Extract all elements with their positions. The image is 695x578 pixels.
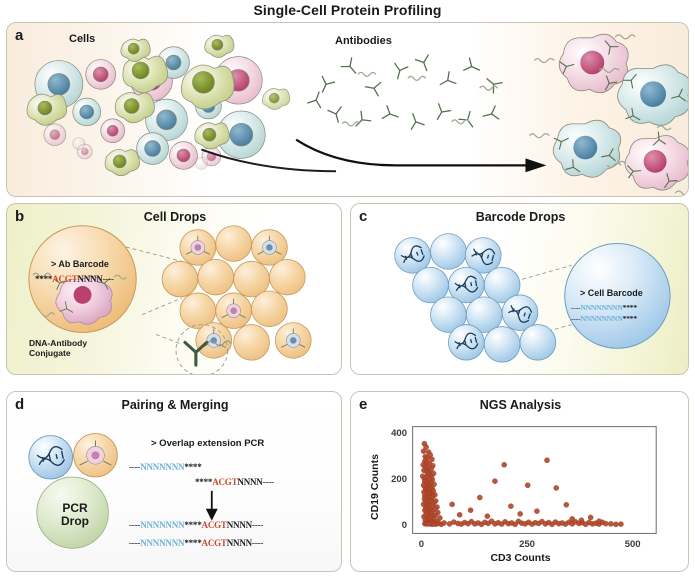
chart-plot-frame (413, 427, 657, 534)
panel-b-conjugate-label: DNA-AntibodyConjugate (29, 339, 87, 359)
chart-point (618, 522, 623, 527)
panel-d-merged-sequence-1: ----NNNNNNN****ACGTNNNN---- (129, 520, 263, 530)
chart-point (518, 511, 523, 516)
panel-a-cells-label: Cells (69, 33, 95, 46)
chart-point (492, 479, 497, 484)
panel-a-letter: a (15, 27, 23, 44)
chart-point (564, 502, 569, 507)
panel-d-pcr-drop-label: PCRDrop (53, 502, 97, 529)
panel-a: a Cells Antibodies (6, 22, 689, 197)
panel-d-pcr-header: > Overlap extension PCR (151, 438, 264, 449)
panel-c-barcode-sequence-1: ----NNNNNNNN**** (571, 303, 637, 312)
panel-e-chart-title: NGS Analysis (351, 398, 689, 412)
chart-point (502, 462, 507, 467)
panel-a-antibodies-label: Antibodies (335, 35, 392, 48)
chart-point (426, 521, 431, 526)
figure-title: Single-Cell Protein Profiling (0, 2, 695, 18)
chart-point (431, 522, 436, 527)
chart-point (477, 495, 482, 500)
chart-point (603, 521, 608, 526)
chart-point (588, 515, 593, 520)
chart-point (570, 516, 575, 521)
ngs-scatter-plot (351, 392, 688, 571)
chart-point (457, 512, 462, 517)
panel-d-input-sequence-1: ----NNNNNNN**** (129, 462, 202, 472)
panel-c: c Barcode Drops (350, 203, 689, 375)
chart-point (544, 458, 549, 463)
panel-b-barcode-sequence: ****ACGTNNNN---- (35, 274, 114, 284)
downward-arrow (206, 491, 218, 521)
panel-b: b Cell Drops (6, 203, 342, 375)
chart-point (450, 502, 455, 507)
chart-point (508, 504, 513, 509)
panel-c-barcode-sequence-2: ----NNNNNNNN**** (571, 314, 637, 323)
panel-c-barcode-header: > Cell Barcode (580, 288, 643, 298)
chart-point (468, 508, 473, 513)
chart-point (534, 509, 539, 514)
panel-e: e NGS Analysis CD19 Counts CD3 Counts 0 … (350, 391, 689, 572)
chart-point (608, 521, 613, 526)
panel-b-title: Cell Drops (7, 210, 342, 224)
panel-a-illustration (7, 23, 688, 196)
panel-b-barcode-header: > Ab Barcode (51, 259, 109, 269)
chart-point (485, 514, 490, 519)
chart-point (579, 518, 584, 523)
chart-point (442, 520, 447, 525)
panel-d-input-sequence-2: ****ACGTNNNN---- (195, 477, 274, 487)
panel-d-title: Pairing & Merging (7, 398, 342, 412)
panel-c-title: Barcode Drops (351, 210, 689, 224)
chart-point (421, 449, 426, 454)
chart-point (596, 519, 601, 524)
chart-point (554, 485, 559, 490)
panel-d: d Pairing & Merging (6, 391, 342, 572)
panel-d-merged-sequence-2: ----NNNNNNN****ACGTNNNN---- (129, 538, 263, 548)
chart-point (613, 522, 618, 527)
figure-root: Single-Cell Protein Profiling a Cells An… (0, 0, 695, 578)
chart-point (525, 483, 530, 488)
